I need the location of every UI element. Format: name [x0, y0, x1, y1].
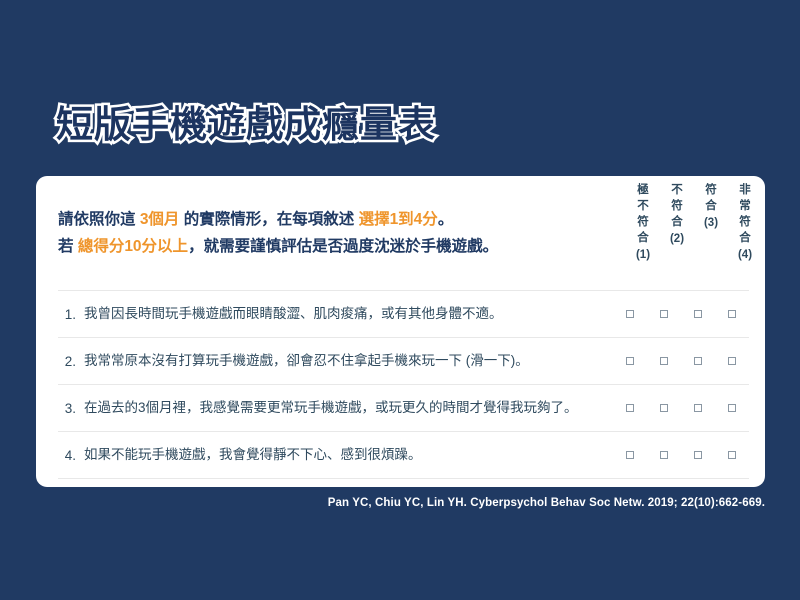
- scale-header-label: 符 合: [700, 182, 722, 214]
- slide-title: 短版手機遊戲成癮量表: [56, 104, 436, 147]
- scale-header-label: 非 常 符 合: [734, 182, 756, 246]
- instructions-highlight-total-score: 總得分10分以上: [78, 238, 188, 255]
- scale-header-4: 非 常 符 合(4): [734, 182, 756, 263]
- instructions-line-1: 請依照你這 3個月 的實際情形，在每項敘述 選擇1到4分。: [58, 206, 638, 233]
- scale-header-2: 不 符 合(2): [666, 182, 688, 263]
- option-cell: [687, 357, 709, 365]
- option-cell: [619, 451, 641, 459]
- question-options: [619, 404, 743, 412]
- checkbox-q4-option4[interactable]: [728, 451, 736, 459]
- option-cell: [653, 357, 675, 365]
- checkbox-q3-option4[interactable]: [728, 404, 736, 412]
- checkbox-q3-option2[interactable]: [660, 404, 668, 412]
- scale-header-number: (3): [700, 215, 722, 231]
- option-cell: [687, 451, 709, 459]
- instructions-text-1a: 請依照你這: [58, 211, 140, 228]
- citation: Pan YC, Chiu YC, Lin YH. Cyberpsychol Be…: [0, 497, 765, 509]
- checkbox-q4-option3[interactable]: [694, 451, 702, 459]
- checkbox-q4-option1[interactable]: [626, 451, 634, 459]
- question-row: 4.如果不能玩手機遊戲，我會覺得靜不下心、感到很煩躁。: [58, 431, 749, 479]
- checkbox-q1-option1[interactable]: [626, 310, 634, 318]
- checkbox-q2-option2[interactable]: [660, 357, 668, 365]
- checkbox-q3-option1[interactable]: [626, 404, 634, 412]
- instructions-highlight-3-months: 3個月: [140, 211, 180, 228]
- checkbox-q2-option1[interactable]: [626, 357, 634, 365]
- question-text: 在過去的3個月裡，我感覺需要更常玩手機遊戲，或玩更久的時間才覺得我玩夠了。: [84, 399, 619, 417]
- instructions-line-2: 若 總得分10分以上，就需要謹慎評估是否過度沈迷於手機遊戲。: [58, 233, 638, 260]
- option-cell: [721, 357, 743, 365]
- option-cell: [721, 451, 743, 459]
- scale-header-label: 極 不 符 合: [632, 182, 654, 246]
- question-number: 1.: [58, 307, 84, 322]
- scale-header-number: (4): [734, 247, 756, 263]
- checkbox-q1-option3[interactable]: [694, 310, 702, 318]
- question-row: 3.在過去的3個月裡，我感覺需要更常玩手機遊戲，或玩更久的時間才覺得我玩夠了。: [58, 384, 749, 431]
- option-cell: [721, 310, 743, 318]
- option-cell: [619, 404, 641, 412]
- instructions-block: 請依照你這 3個月 的實際情形，在每項敘述 選擇1到4分。 若 總得分10分以上…: [58, 206, 638, 260]
- instructions-text-1b: 的實際情形，在每項敘述: [179, 211, 358, 228]
- questionnaire-card: 請依照你這 3個月 的實際情形，在每項敘述 選擇1到4分。 若 總得分10分以上…: [36, 176, 765, 487]
- questions-table: 1.我曾因長時間玩手機遊戲而眼睛酸澀、肌肉痠痛，或有其他身體不適。2.我常常原本…: [58, 290, 749, 479]
- instructions-text-1c: 。: [438, 211, 454, 228]
- option-cell: [687, 404, 709, 412]
- question-number: 4.: [58, 448, 84, 463]
- checkbox-q1-option4[interactable]: [728, 310, 736, 318]
- instructions-text-2a: 若: [58, 238, 78, 255]
- checkbox-q1-option2[interactable]: [660, 310, 668, 318]
- scale-header-label: 不 符 合: [666, 182, 688, 230]
- scale-header-1: 極 不 符 合(1): [632, 182, 654, 263]
- question-options: [619, 310, 743, 318]
- checkbox-q2-option4[interactable]: [728, 357, 736, 365]
- option-cell: [653, 404, 675, 412]
- option-cell: [721, 404, 743, 412]
- question-text: 我曾因長時間玩手機遊戲而眼睛酸澀、肌肉痠痛，或有其他身體不適。: [84, 305, 619, 323]
- scale-header-number: (1): [632, 247, 654, 263]
- option-cell: [653, 310, 675, 318]
- checkbox-q3-option3[interactable]: [694, 404, 702, 412]
- question-row: 1.我曾因長時間玩手機遊戲而眼睛酸澀、肌肉痠痛，或有其他身體不適。: [58, 290, 749, 337]
- checkbox-q4-option2[interactable]: [660, 451, 668, 459]
- checkbox-q2-option3[interactable]: [694, 357, 702, 365]
- question-options: [619, 357, 743, 365]
- question-text: 如果不能玩手機遊戲，我會覺得靜不下心、感到很煩躁。: [84, 446, 619, 464]
- scale-header-row: 極 不 符 合(1)不 符 合(2)符 合(3)非 常 符 合(4): [632, 182, 756, 263]
- option-cell: [619, 310, 641, 318]
- option-cell: [619, 357, 641, 365]
- question-text: 我常常原本沒有打算玩手機遊戲，卻會忍不住拿起手機來玩一下 (滑一下)。: [84, 352, 619, 370]
- instructions-text-2b: ，就需要謹慎評估是否過度沈迷於手機遊戲。: [188, 238, 498, 255]
- scale-header-number: (2): [666, 231, 688, 247]
- option-cell: [687, 310, 709, 318]
- question-options: [619, 451, 743, 459]
- question-number: 3.: [58, 401, 84, 416]
- instructions-highlight-select-score: 選擇1到4分: [359, 211, 438, 228]
- question-row: 2.我常常原本沒有打算玩手機遊戲，卻會忍不住拿起手機來玩一下 (滑一下)。: [58, 337, 749, 384]
- question-number: 2.: [58, 354, 84, 369]
- scale-header-3: 符 合(3): [700, 182, 722, 263]
- option-cell: [653, 451, 675, 459]
